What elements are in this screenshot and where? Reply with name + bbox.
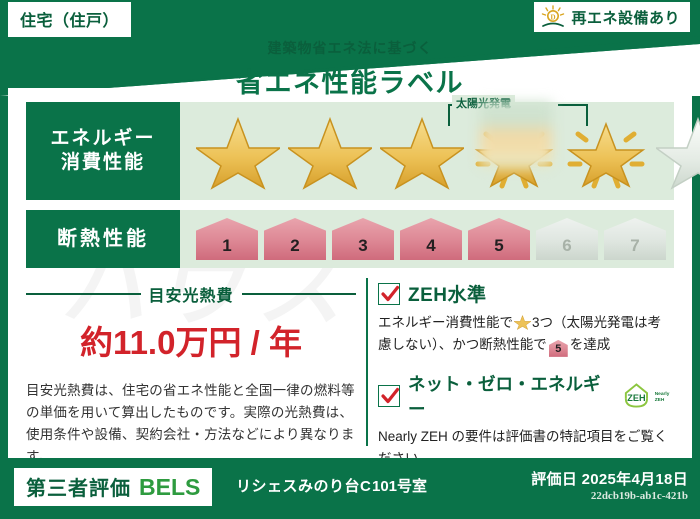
main-card: ハウス エネルギー 消費性能 [8,88,692,458]
star-6-empty [656,112,700,190]
utility-cost-note: 目安光熱費は、住宅の省エネ性能と全国一律の燃料等の単価を用いて算出したものです。… [26,380,356,467]
insulation-level-panel: 1 2 3 4 5 6 [180,210,674,268]
title-subtitle: 建築物省エネ法に基づく [0,38,700,58]
building-name: リシェスみのり台C [236,475,371,496]
utility-cost-section: 目安光熱費 約11.0万円 / 年 目安光熱費は、住宅の省エネ性能と全国一律の燃… [26,278,356,446]
insulation-performance-row: 断熱性能 1 2 3 4 [26,210,674,268]
star-1 [196,112,280,190]
section-divider [366,278,368,446]
insulation-level-5: 5 [468,218,530,260]
footer-band: 第三者評価 BELS リシェスみのり台C 101号室 評価日 2025年4月18… [0,458,700,519]
insulation-level-4: 4 [400,218,462,260]
housing-type-tag: 住宅（住戸） [8,2,131,37]
net-zero-checkbox[interactable] [378,385,400,407]
renewable-tag-label: 再エネ設備あり [571,7,680,28]
utility-cost-amount: 約11.0万円 / 年 [26,316,356,364]
insulation-level-6: 6 [536,218,598,260]
energy-star-panel: 太陽光発電 [180,102,674,200]
label-title: 建築物省エネ法に基づく 省エネ性能ラベル [0,38,700,96]
bels-en-label: BELS [139,474,200,501]
inline-house-num: 5 [555,343,561,355]
utility-cost-heading-row: 目安光熱費 [26,282,356,306]
zeh-standard-checkbox[interactable] [378,283,400,305]
svg-text:ZEH: ZEH [655,397,665,403]
zeh-house-logo-icon: ZEH Nearly ZEH [622,382,674,410]
header-band: 住宅（住戸） D 再エネ設備あり 建築物省エネ法に基づく 省エネ性能ラベル [0,0,700,96]
zeh-body-part3: を達成 [570,337,611,352]
rule-left [26,293,141,295]
energy-label-line1: エネルギー [50,127,155,151]
blurred-region-overlay [480,102,552,168]
net-zero-energy-item: ネット・ゼロ・エネルギー ZEH Nearly ZEH Nearly ZEH の… [378,371,674,470]
inline-house-badge: 5 [549,340,568,357]
svg-text:D: D [551,13,556,21]
bels-certification-chip: 第三者評価 BELS [14,468,212,506]
zeh-standard-body: エネルギー消費性能で3つ（太陽光発電は考慮しない）、かつ断熱性能で5を達成 [378,312,674,357]
energy-label-line2: 消費性能 [61,151,145,175]
star-rating [180,102,674,200]
rule-right [242,293,357,295]
renewable-equipment-tag: D 再エネ設備あり [534,2,690,32]
bels-energy-label: 住宅（住戸） D 再エネ設備あり 建築物省エネ法に基づく 省エネ性能ラベル [0,0,700,519]
svg-text:ZEH: ZEH [627,393,645,403]
room-number: 101号室 [372,475,427,496]
title-main: 省エネ性能ラベル [0,61,700,96]
evaluation-date: 評価日 2025年4月18日 [531,468,688,489]
zeh-body-part1: エネルギー消費性能で [378,315,513,330]
net-zero-head: ネット・ゼロ・エネルギー ZEH Nearly ZEH [378,371,674,421]
evaluation-id: 22dcb19b-ab1c-421b [591,490,688,502]
net-zero-title: ネット・ゼロ・エネルギー [408,371,610,421]
zeh-standard-item: ZEH水準 エネルギー消費性能で3つ（太陽光発電は考慮しない）、かつ断熱性能で5… [378,280,674,357]
bels-jp-label: 第三者評価 [26,472,131,501]
energy-performance-label: エネルギー 消費性能 [26,102,180,200]
check-icon [380,284,400,304]
check-icon [380,386,400,406]
insulation-level-7: 7 [604,218,666,260]
insulation-level-3: 3 [332,218,394,260]
svg-text:Nearly: Nearly [655,391,670,397]
zeh-section: ZEH水準 エネルギー消費性能で3つ（太陽光発電は考慮しない）、かつ断熱性能で5… [378,278,674,446]
star-2 [288,112,372,190]
insulation-level-1: 1 [196,218,258,260]
insulation-level-2: 2 [264,218,326,260]
energy-performance-row: エネルギー 消費性能 [26,102,674,200]
zeh-standard-head: ZEH水準 [378,280,674,307]
utility-cost-heading: 目安光熱費 [149,282,234,306]
insulation-performance-label: 断熱性能 [26,210,180,268]
insulation-level-scale: 1 2 3 4 5 6 [180,210,674,268]
zeh-standard-title: ZEH水準 [408,280,487,307]
lower-section: 目安光熱費 約11.0万円 / 年 目安光熱費は、住宅の省エネ性能と全国一律の燃… [26,278,674,446]
inline-star-icon [514,314,531,330]
sun-solar-icon: D [540,5,566,29]
